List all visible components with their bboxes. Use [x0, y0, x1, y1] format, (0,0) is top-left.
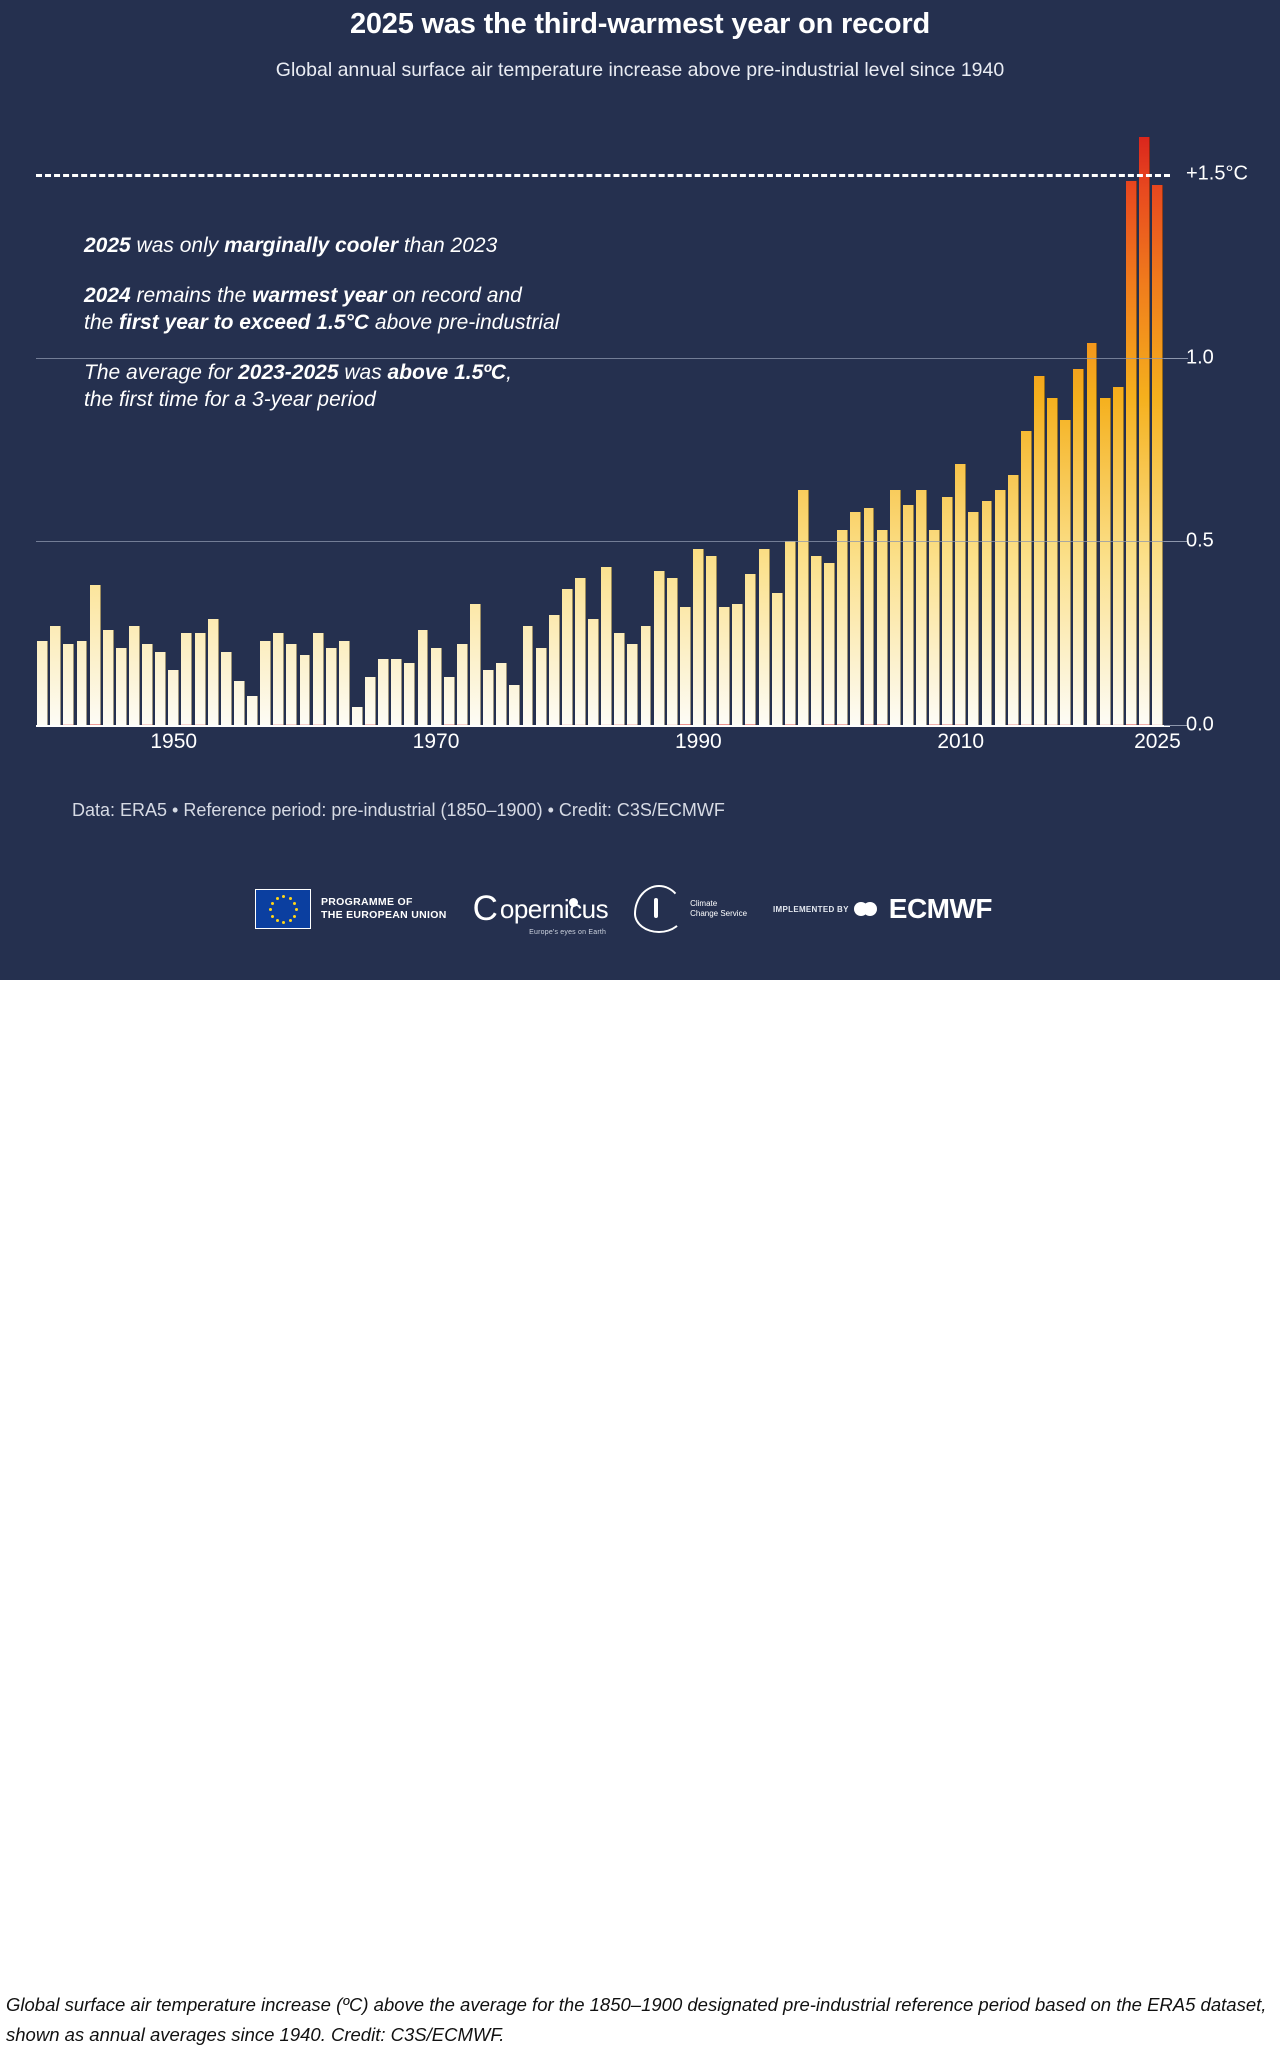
- bar-2017: [1047, 398, 1058, 725]
- bar-2005: [890, 490, 901, 725]
- bar-1958: [273, 633, 284, 725]
- bar-1995: [759, 549, 770, 725]
- bar-series: [36, 130, 1164, 725]
- eu-logo-line1: PROGRAMME OF: [321, 896, 447, 909]
- bar-1968: [404, 663, 415, 725]
- ccs-logo-line2: Change Service: [690, 909, 747, 919]
- bar-1954: [221, 652, 232, 725]
- bar-chart: 0.00.51.0+1.5°C 19501970199020102025: [36, 130, 1164, 725]
- ccs-logo-text: Climate Change Service: [690, 899, 747, 919]
- bar-1973: [470, 604, 481, 725]
- caption-strip: Global surface air temperature increase …: [0, 980, 1280, 1077]
- bar-2009: [942, 497, 953, 725]
- bar-1942: [63, 644, 74, 725]
- bar-1944: [90, 585, 101, 725]
- copernicus-logo: C opernicus Europe's eyes on Earth: [473, 893, 609, 925]
- bar-1963: [339, 641, 350, 725]
- eu-logo: PROGRAMME OF THE EUROPEAN UNION: [255, 889, 447, 929]
- bar-2000: [824, 563, 835, 725]
- bar-1967: [391, 659, 402, 725]
- page-title: 2025 was the third-warmest year on recor…: [0, 8, 1280, 41]
- bar-2015: [1021, 431, 1032, 725]
- bar-1978: [536, 648, 547, 725]
- thermometer-icon: [634, 885, 684, 933]
- ccs-logo-line1: Climate: [690, 899, 747, 909]
- infographic-panel: 2025 was the third-warmest year on recor…: [0, 0, 1280, 980]
- implemented-by-label: IMPLEMENTED BY: [773, 905, 849, 914]
- bar-2002: [850, 512, 861, 725]
- bar-2013: [995, 490, 1006, 725]
- tick-stub-0.5: [1164, 541, 1188, 542]
- bar-1940: [37, 641, 48, 725]
- bar-1953: [208, 619, 219, 726]
- bar-2001: [837, 530, 848, 725]
- bar-1951: [181, 633, 192, 725]
- ecmwf-wordmark: ECMWF: [889, 893, 992, 925]
- climate-change-service-logo: Climate Change Service: [634, 885, 747, 933]
- bar-2016: [1034, 376, 1045, 725]
- bar-1956: [247, 696, 258, 725]
- bar-1987: [654, 571, 665, 725]
- bar-2010: [955, 464, 966, 725]
- eu-logo-text: PROGRAMME OF THE EUROPEAN UNION: [321, 896, 447, 922]
- bar-1992: [719, 607, 730, 725]
- bar-1971: [444, 677, 455, 725]
- bar-1986: [641, 626, 652, 725]
- bar-2006: [903, 505, 914, 725]
- bar-2008: [929, 530, 940, 725]
- bar-2024: [1139, 137, 1150, 725]
- bar-1983: [601, 567, 612, 725]
- bar-2007: [916, 490, 927, 725]
- bar-1988: [667, 578, 678, 725]
- bar-1974: [483, 670, 494, 725]
- logo-bar: PROGRAMME OF THE EUROPEAN UNION C operni…: [255, 878, 1045, 940]
- x-axis-line: [36, 725, 1170, 727]
- bar-1999: [811, 556, 822, 725]
- bar-2019: [1073, 369, 1084, 725]
- x-tick-label-2010: 2010: [937, 730, 984, 754]
- bar-1959: [286, 644, 297, 725]
- bar-1993: [732, 604, 743, 725]
- bar-1976: [509, 685, 520, 725]
- bar-1964: [352, 707, 363, 725]
- bar-1961: [313, 633, 324, 725]
- bar-2025: [1152, 185, 1163, 725]
- bar-1970: [431, 648, 442, 725]
- x-tick-label-1950: 1950: [150, 730, 197, 754]
- bar-1950: [168, 670, 179, 725]
- bar-1943: [77, 641, 88, 725]
- bar-1984: [614, 633, 625, 725]
- bar-1991: [706, 556, 717, 725]
- bar-2021: [1100, 398, 1111, 725]
- copernicus-c-icon: C: [473, 893, 498, 925]
- source-credit: Data: ERA5 • Reference period: pre-indus…: [72, 800, 725, 821]
- bar-1965: [365, 677, 376, 725]
- bar-1979: [549, 615, 560, 725]
- ecmwf-mark-icon: [854, 897, 884, 921]
- copernicus-wordmark: opernicus Europe's eyes on Earth: [500, 894, 608, 925]
- bar-1972: [457, 644, 468, 725]
- bar-1980: [562, 589, 573, 725]
- bar-1990: [693, 549, 704, 725]
- bar-1962: [326, 648, 337, 725]
- x-tick-label-1990: 1990: [675, 730, 722, 754]
- bar-1945: [103, 630, 114, 725]
- bar-1960: [300, 655, 311, 725]
- bar-2020: [1087, 343, 1098, 725]
- bar-1946: [116, 648, 127, 725]
- bar-1994: [745, 574, 756, 725]
- bar-2014: [1008, 475, 1019, 725]
- eu-flag-icon: [255, 889, 311, 929]
- bar-1949: [155, 652, 166, 725]
- page-subtitle: Global annual surface air temperature in…: [0, 59, 1280, 82]
- bar-1982: [588, 619, 599, 726]
- tick-stub-1: [1164, 358, 1188, 359]
- gridline-1: [36, 358, 1170, 359]
- tick-stub-0: [1164, 725, 1188, 726]
- y-tick-label-00: 0.0: [1186, 714, 1214, 737]
- bar-2023: [1126, 181, 1137, 725]
- y-tick-label-05: 0.5: [1186, 530, 1214, 553]
- bar-1947: [129, 626, 140, 725]
- y-tick-label-15C: +1.5°C: [1186, 163, 1248, 186]
- bar-1977: [523, 626, 534, 725]
- bar-1998: [798, 490, 809, 725]
- bar-2011: [968, 512, 979, 725]
- bar-1981: [575, 578, 586, 725]
- bar-2004: [877, 530, 888, 725]
- bar-1985: [627, 644, 638, 725]
- bar-1952: [195, 633, 206, 725]
- bar-1941: [50, 626, 61, 725]
- y-tick-label-10: 1.0: [1186, 346, 1214, 369]
- bar-1955: [234, 681, 245, 725]
- ecmwf-logo: IMPLEMENTED BY ECMWF: [773, 893, 992, 925]
- figure-caption: Global surface air temperature increase …: [6, 1990, 1274, 2050]
- bar-2018: [1060, 420, 1071, 725]
- x-tick-label-2025: 2025: [1134, 730, 1181, 754]
- bar-1966: [378, 659, 389, 725]
- eu-logo-line2: THE EUROPEAN UNION: [321, 909, 447, 922]
- bar-1997: [785, 541, 796, 725]
- x-tick-label-1970: 1970: [413, 730, 460, 754]
- bar-1957: [260, 641, 271, 725]
- bar-1989: [680, 607, 691, 725]
- copernicus-word-text: opernicus: [500, 894, 608, 924]
- bar-1948: [142, 644, 153, 725]
- reference-line-1-5: [36, 174, 1170, 177]
- bar-1975: [496, 663, 507, 725]
- bar-1969: [418, 630, 429, 725]
- copernicus-tagline: Europe's eyes on Earth: [529, 929, 606, 936]
- bar-2012: [982, 501, 993, 725]
- bar-2022: [1113, 387, 1124, 725]
- gridline-0.5: [36, 541, 1170, 542]
- bar-1996: [772, 593, 783, 725]
